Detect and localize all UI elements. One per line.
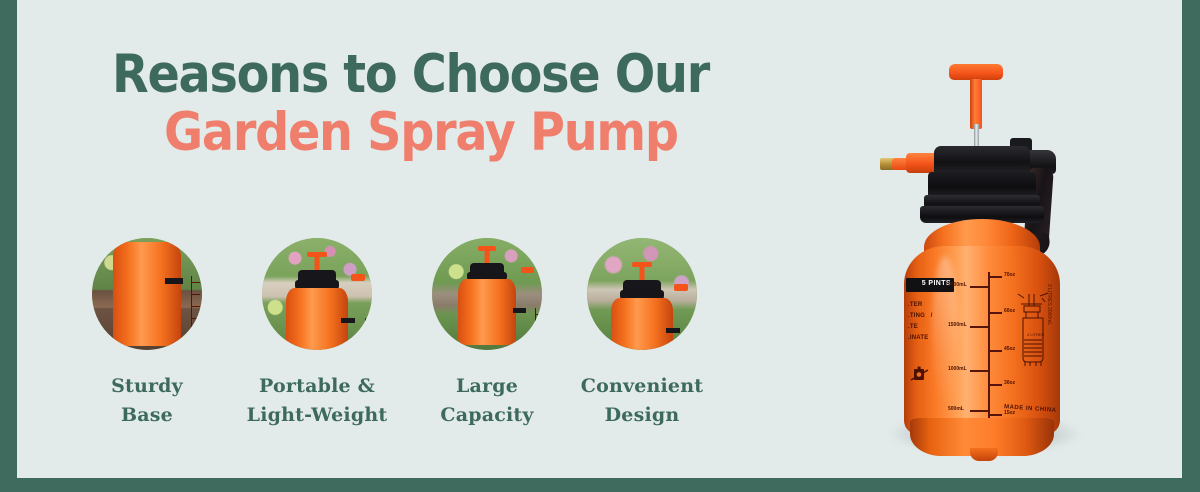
feature-label-line-1: Convenient — [567, 372, 717, 401]
headline-line-secondary: Garden Spray Pump — [164, 106, 693, 160]
feature-label-line-2: Capacity — [412, 401, 562, 430]
scale-label-oz: 30oz — [1004, 380, 1015, 386]
scale-label-oz: 70oz — [1004, 272, 1015, 278]
portable-lightweight-photo — [262, 238, 372, 350]
plunger-t-handle — [949, 64, 1003, 80]
scale-tick-ml — [970, 326, 988, 328]
feature-item-large-capacity[interactable]: Large Capacity — [412, 238, 562, 431]
scale-tick-ml — [970, 370, 988, 372]
banner-canvas: Reasons to Choose Our Garden Spray Pump — [17, 0, 1182, 478]
fine-print-line: .TER — [908, 300, 946, 311]
plunger-stem — [970, 79, 982, 129]
feature-label-line-1: Sturdy — [72, 372, 222, 401]
feature-label-line-1: Large — [412, 372, 562, 401]
feature-label-line-2: Design — [567, 401, 717, 430]
feature-item-sturdy-base[interactable]: Sturdy Base — [72, 238, 222, 431]
feature-label-portable: Portable & Light-Weight — [242, 372, 392, 431]
feature-label-convenient-design: Convenient Design — [567, 372, 717, 431]
feature-label-line-2: Light-Weight — [242, 401, 392, 430]
scale-tick-oz — [988, 414, 1002, 416]
bottle-side-text: 2 LITRES 2000mL — [1044, 284, 1053, 404]
fine-print-line: .TE — [908, 322, 946, 333]
frame-border-left — [0, 0, 17, 492]
fine-print-line: .INATE — [908, 333, 946, 344]
scale-tick-oz — [988, 312, 1002, 314]
scale-tick-oz — [988, 350, 1002, 352]
scale-tick-oz — [988, 384, 1002, 386]
fine-print-line: .TING / — [908, 311, 946, 322]
frame-border-right — [1182, 0, 1200, 492]
scale-tick-ml — [970, 410, 988, 412]
scale-label-ml: 1000mL — [948, 366, 967, 372]
feature-label-large-capacity: Large Capacity — [412, 372, 562, 431]
scale-label-ml: 1500mL — [948, 322, 967, 328]
feature-item-portable[interactable]: Portable & Light-Weight — [242, 238, 392, 431]
scale-label-ml: 500mL — [948, 406, 964, 412]
large-capacity-photo — [432, 238, 542, 350]
headline-line-primary: Reasons to Choose Our — [112, 48, 688, 102]
banner-root: Reasons to Choose Our Garden Spray Pump — [0, 0, 1200, 492]
scale-tick-ml — [970, 286, 988, 288]
headline-block: Reasons to Choose Our Garden Spray Pump — [112, 48, 752, 160]
sturdy-base-photo — [92, 238, 202, 350]
bottle-fine-print: .TER .TING / .TE .INATE — [908, 300, 946, 344]
feature-item-convenient-design[interactable]: Convenient Design — [567, 238, 717, 431]
convenient-design-photo — [587, 238, 697, 350]
bottle-center-foot — [970, 448, 998, 461]
warning-pictogram-icon — [908, 364, 934, 384]
scale-tick-oz — [988, 276, 1002, 278]
feature-label-line-1: Portable & — [242, 372, 392, 401]
scale-label-ml: 2000mL — [948, 282, 967, 288]
feature-label-line-2: Base — [72, 401, 222, 430]
pints-badge-label: 5 PINTS — [922, 280, 951, 287]
feature-list: Sturdy Base — [17, 238, 777, 438]
frame-border-bottom — [0, 478, 1200, 492]
hero-product-image: 5 PINTS .TER .TING / .TE .INATE — [862, 34, 1112, 464]
scale-axis — [988, 272, 990, 418]
feature-label-sturdy-base: Sturdy Base — [72, 372, 222, 431]
pints-badge: 5 PINTS — [906, 278, 954, 292]
diagram-capacity-label: 2 LITRES — [1027, 332, 1045, 337]
